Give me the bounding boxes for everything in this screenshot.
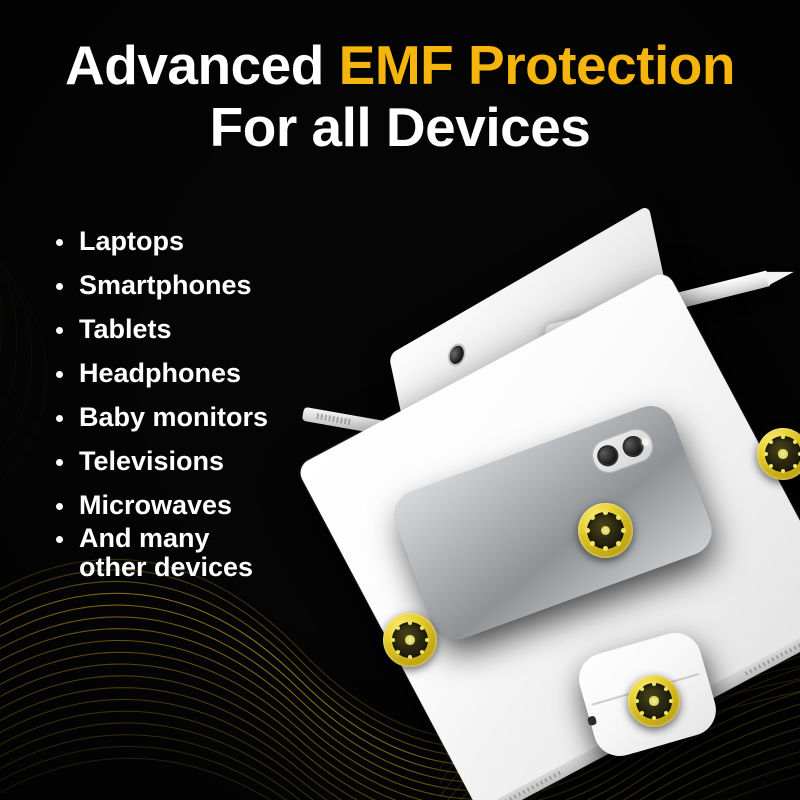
emf-sticker-core: [587, 512, 624, 549]
list-item-label: Baby monitors: [79, 404, 268, 431]
list-item-label: Televisions: [79, 448, 224, 475]
emf-sticker-icon: [628, 675, 680, 727]
list-item: Televisions: [48, 448, 268, 475]
headline-line-2: For all Devices: [0, 98, 800, 156]
headline-part-advanced: Advanced: [65, 34, 339, 96]
list-item: And manyother devices: [48, 525, 268, 581]
bullet-dot-icon: [56, 503, 63, 510]
bullet-dot-icon: [56, 459, 63, 466]
bullet-dot-icon: [56, 415, 63, 422]
speaker-grille: [745, 642, 800, 676]
headline-part-emf: EMF Protection: [339, 34, 735, 96]
camera-icon: [448, 343, 465, 367]
headline-line-1: Advanced EMF Protection: [0, 36, 800, 94]
product-photo: [330, 290, 800, 800]
emf-sticker-icon: [383, 613, 437, 667]
bullet-dot-icon: [56, 371, 63, 378]
device-list: Laptops Smartphones Tablets Headphones B…: [48, 228, 268, 598]
bullet-dot-icon: [56, 239, 63, 246]
list-item: Smartphones: [48, 272, 268, 299]
emf-sticker-core: [392, 622, 429, 659]
camera-lens-icon: [594, 442, 621, 469]
list-item: Laptops: [48, 228, 268, 255]
list-item-label: Smartphones: [79, 272, 252, 299]
list-item-label-line2: other devices: [79, 554, 253, 581]
earbuds-case-led: [587, 715, 597, 726]
bullet-dot-icon: [56, 536, 63, 543]
emf-sticker-core: [765, 436, 800, 471]
promo-banner: Advanced EMF Protection For all Devices …: [0, 0, 800, 800]
list-item-label: Microwaves: [79, 492, 232, 519]
list-item: Baby monitors: [48, 404, 268, 431]
bullet-dot-icon: [56, 327, 63, 334]
list-item: Microwaves: [48, 492, 268, 519]
speaker-grille: [504, 770, 562, 800]
camera-lens-icon: [620, 433, 647, 460]
emf-sticker-icon: [757, 428, 800, 480]
bullet-dot-icon: [56, 283, 63, 290]
list-item-label: Tablets: [79, 316, 172, 343]
list-item-label: Headphones: [79, 360, 241, 387]
list-item: Tablets: [48, 316, 268, 343]
list-item-label: Laptops: [79, 228, 184, 255]
emf-sticker-icon: [578, 503, 633, 558]
list-item-label-line1: And many: [79, 523, 210, 553]
list-item-label: And manyother devices: [79, 525, 253, 581]
emf-sticker-core: [636, 683, 671, 718]
page-title: Advanced EMF Protection For all Devices: [0, 36, 800, 157]
list-item: Headphones: [48, 360, 268, 387]
